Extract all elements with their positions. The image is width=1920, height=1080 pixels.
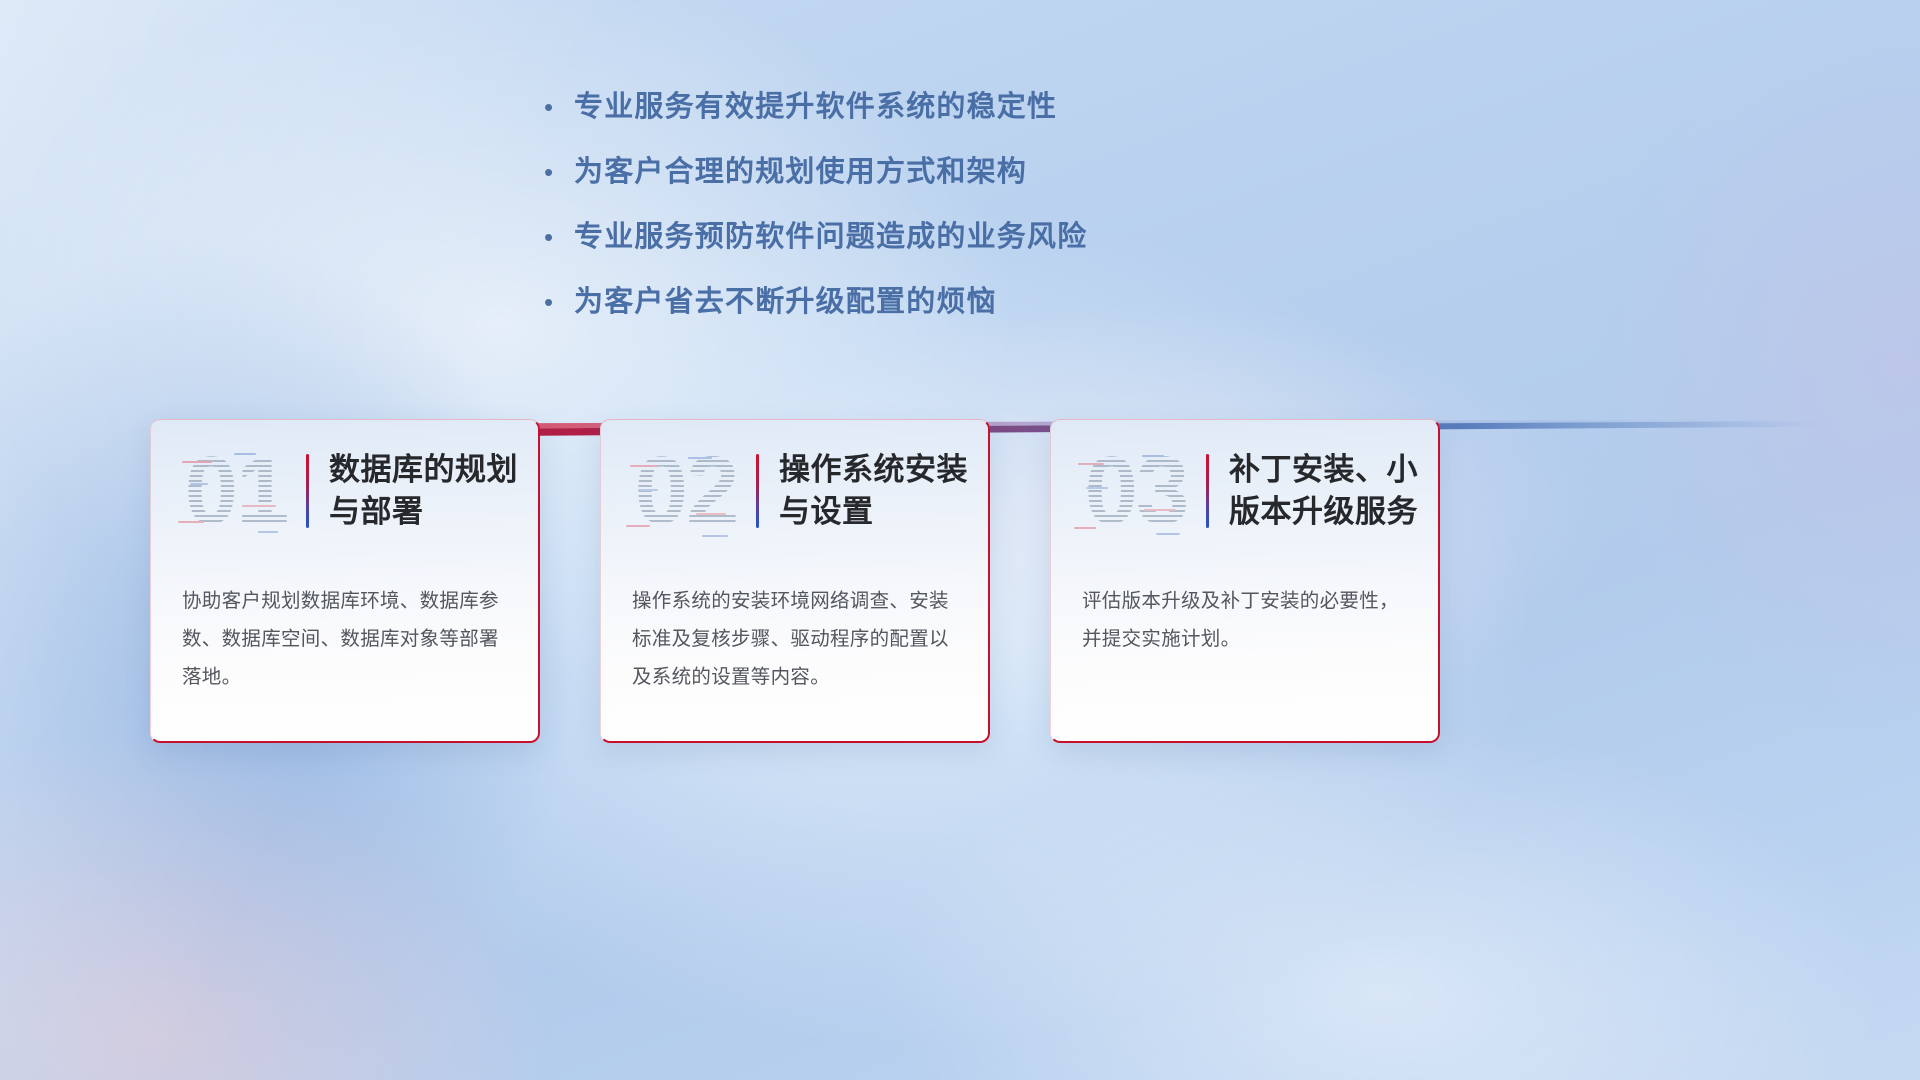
card-number-text: 03 xyxy=(1072,435,1200,547)
card-number-watermark: 03 xyxy=(1072,435,1200,547)
bullet-marker-icon: • xyxy=(540,153,574,191)
bullet-item: • 为客户省去不断升级配置的烦恼 xyxy=(540,283,1520,335)
card-title-line2: 与设置 xyxy=(779,491,974,533)
bullet-marker-icon: • xyxy=(540,88,574,126)
card-title-line1: 补丁安装、小 xyxy=(1229,449,1424,491)
card-title: 操作系统安装 与设置 xyxy=(779,449,990,533)
slide-canvas: • 专业服务有效提升软件系统的稳定性 • 为客户合理的规划使用方式和架构 • 专… xyxy=(0,0,1920,1080)
card-accent-rule xyxy=(756,454,759,528)
card-accent-rule xyxy=(306,454,309,528)
card-header: 01 数据库的规划 与部署 xyxy=(150,431,540,551)
card-title: 补丁安装、小 版本升级服务 xyxy=(1229,449,1440,533)
card-number-watermark: 01 xyxy=(172,435,300,547)
bullet-label: 为客户合理的规划使用方式和架构 xyxy=(574,153,1027,191)
bullet-item: • 专业服务有效提升软件系统的稳定性 xyxy=(540,88,1520,140)
bullet-item: • 专业服务预防软件问题造成的业务风险 xyxy=(540,218,1520,270)
bullet-label: 专业服务预防软件问题造成的业务风险 xyxy=(574,218,1087,256)
bullet-marker-icon: • xyxy=(540,218,574,256)
card-header: 03 补丁安装、小 版本升级服务 xyxy=(1050,431,1440,551)
card-number-text: 02 xyxy=(622,435,750,547)
card-accent-rule xyxy=(1206,454,1209,528)
card-title-line1: 数据库的规划 xyxy=(329,449,524,491)
card-number-watermark: 02 xyxy=(622,435,750,547)
card-title-line2: 版本升级服务 xyxy=(1229,491,1424,533)
service-card[interactable]: 02 操作系统安装 与设置 操作系统的安装环境网络调查、安装标准及复核步骤、驱动… xyxy=(600,419,990,743)
card-description: 评估版本升级及补丁安装的必要性，并提交实施计划。 xyxy=(1082,582,1414,658)
service-card-row: 01 数据库的规划 与部署 协助客户规划数据库环境、数据库参数、数据库空间、数据… xyxy=(150,419,1782,743)
bullet-marker-icon: • xyxy=(540,283,574,321)
card-header: 02 操作系统安装 与设置 xyxy=(600,431,990,551)
card-description: 协助客户规划数据库环境、数据库参数、数据库空间、数据库对象等部署落地。 xyxy=(182,582,514,696)
service-card[interactable]: 03 补丁安装、小 版本升级服务 评估版本升级及补丁安装的必要性，并提交实施计划… xyxy=(1050,419,1440,743)
bullet-item: • 为客户合理的规划使用方式和架构 xyxy=(540,153,1520,205)
card-title-line2: 与部署 xyxy=(329,491,524,533)
bullet-label: 专业服务有效提升软件系统的稳定性 xyxy=(574,88,1057,126)
card-title-line1: 操作系统安装 xyxy=(779,449,974,491)
card-title: 数据库的规划 与部署 xyxy=(329,449,540,533)
card-number-text: 01 xyxy=(172,435,300,547)
service-card[interactable]: 01 数据库的规划 与部署 协助客户规划数据库环境、数据库参数、数据库空间、数据… xyxy=(150,419,540,743)
benefits-bullet-list: • 专业服务有效提升软件系统的稳定性 • 为客户合理的规划使用方式和架构 • 专… xyxy=(540,88,1520,348)
bullet-label: 为客户省去不断升级配置的烦恼 xyxy=(574,283,997,321)
card-description: 操作系统的安装环境网络调查、安装标准及复核步骤、驱动程序的配置以及系统的设置等内… xyxy=(632,582,964,696)
